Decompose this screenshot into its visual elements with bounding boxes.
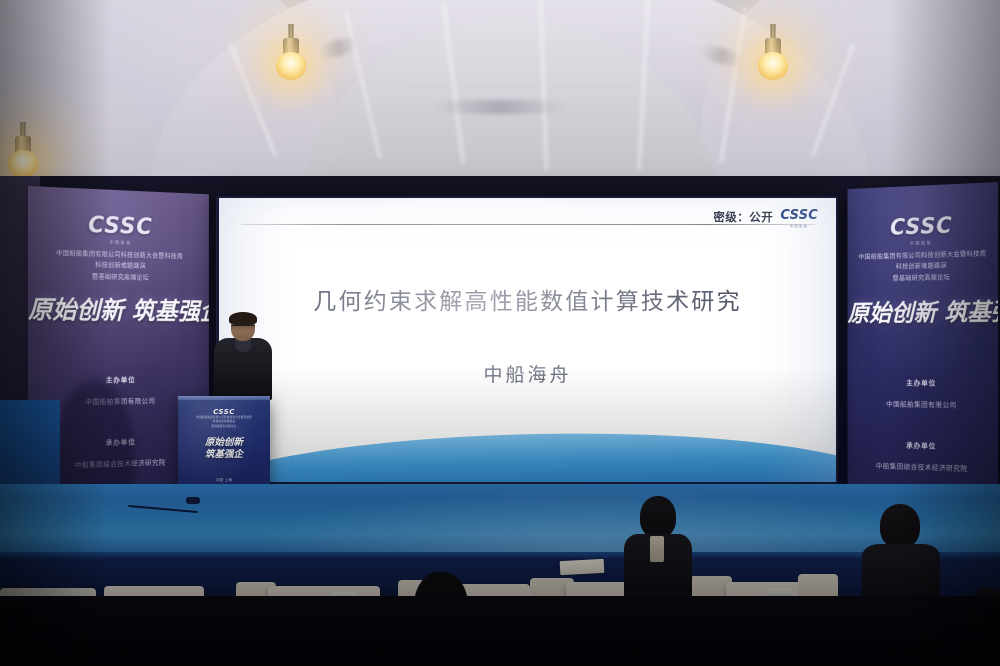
podium-line-3: 暨基础研究高端论坛 (178, 425, 270, 429)
banner-right: CSSC 中国船舶 中国船舶集团有限公司科技创新大会暨科技周 科技创新难题路演 … (848, 182, 998, 522)
banner-right-slogan: 原始创新 筑基强企 (848, 292, 998, 328)
audience-person-collar (650, 536, 664, 562)
pendant-lamp (8, 122, 38, 182)
slide-title: 几何约束求解高性能数值计算技术研究 (219, 282, 836, 316)
banner-left-host-title: 主办单位 (28, 375, 209, 386)
banner-left-slogan: 原始创新 筑基强企 (28, 290, 209, 327)
lamp-bulb-icon (758, 52, 788, 80)
slide-wave-front (219, 427, 836, 482)
slide-header-divider (241, 224, 815, 225)
lamp-bulb-icon (8, 150, 38, 178)
audience-person (866, 504, 936, 604)
banner-right-host-title: 主办单位 (848, 378, 998, 389)
banner-right-organizer-name: 中船集团综合技术经济研究院 (848, 460, 998, 475)
drape-shadow (430, 100, 570, 114)
podium-slogan-line-1: 原始创新 (178, 437, 270, 449)
slide-subtitle: 中船海舟 (219, 360, 836, 387)
stage-cable-clip (186, 497, 200, 504)
speaker-collar (235, 340, 251, 352)
projection-screen: 密级：公开 CSSC 中国船舶 几何约束求解高性能数值计算技术研究 中船海舟 (219, 198, 836, 482)
audience-person-body (862, 544, 940, 600)
glasses-icon (231, 325, 255, 330)
speaker-person (214, 314, 272, 400)
stage-deck (0, 484, 1000, 556)
banner-right-organizer-title: 承办单位 (848, 439, 998, 453)
slide-cssc-logo-text: CSSC (780, 208, 818, 223)
ceiling (0, 0, 1000, 200)
pendant-lamp (276, 24, 306, 84)
lamp-bulb-icon (276, 52, 306, 80)
banner-right-logo: CSSC (848, 212, 998, 242)
audience-person-head (640, 496, 676, 538)
notebook (560, 559, 605, 575)
podium-slogan-line-2: 筑基强企 (178, 449, 270, 461)
podium-top-surface (178, 396, 270, 400)
floor (0, 596, 1000, 666)
podium-logo: CSSC (178, 408, 270, 416)
banner-right-host-name: 中国船舶集团有限公司 (848, 399, 998, 411)
pendant-lamp (758, 24, 788, 84)
speaker-hair (229, 312, 257, 325)
banner-right-line-3: 暨基础研究高端论坛 (848, 271, 998, 285)
audience-person-head (880, 504, 920, 548)
slide-classification-label: 密级：公开 (713, 209, 773, 225)
conference-hall-scene: CSSC 中国船舶 中国船舶集团有限公司科技创新大会暨科技周 科技创新难题路演 … (0, 0, 1000, 666)
